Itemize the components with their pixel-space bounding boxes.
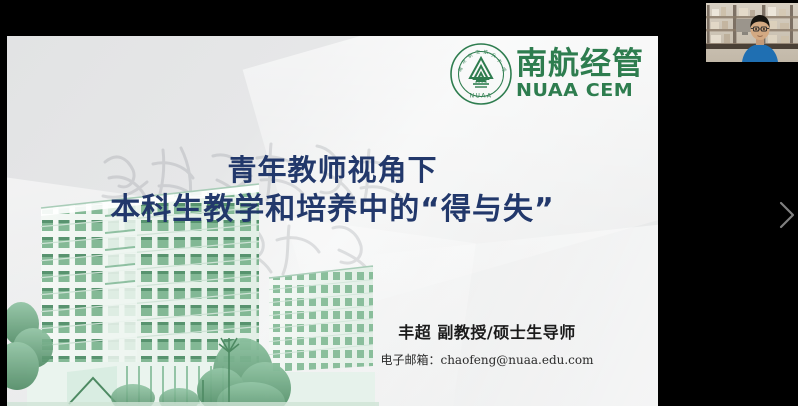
svg-text:1952: 1952 [475, 79, 488, 85]
logo-wordmark: 南航经管 NUAA CEM [516, 49, 644, 100]
svg-text:学: 学 [500, 66, 509, 74]
calligraphy-watermark [93, 134, 453, 279]
svg-text:天: 天 [490, 52, 497, 59]
logo-wordmark-cn: 南航经管 [516, 49, 644, 80]
shared-slide[interactable]: 1952 NUAA 南 京 航 空 航 天 大 学 南航经管 NUAA CEM [7, 36, 658, 406]
slide-title-line-1: 青年教师视角下 [7, 152, 658, 188]
slide-title-line-2: 本科生教学和培养中的“得与失” [7, 190, 658, 230]
presenter-info: 丰超 副教授/硕士生导师 电子邮箱：chaofeng@nuaa.edu.com [337, 319, 637, 368]
logo-wordmark-en: NUAA CEM [516, 82, 633, 100]
nuaa-crest-icon: 1952 NUAA 南 京 航 空 航 天 大 学 [449, 42, 513, 106]
slide-background-facet-c [329, 221, 658, 406]
slide-background-facet-b [7, 171, 476, 406]
nuaa-cem-logo: 1952 NUAA 南 京 航 空 航 天 大 学 南航经管 NUAA CEM [449, 42, 644, 106]
presenter-name: 丰超 副教授/硕士生导师 [337, 319, 637, 343]
presenter-email: 电子邮箱：chaofeng@nuaa.edu.com [337, 351, 637, 368]
svg-text:NUAA: NUAA [470, 93, 493, 100]
slide-title: 青年教师视角下 本科生教学和培养中的“得与失” [7, 152, 658, 230]
svg-text:航: 航 [483, 49, 488, 56]
svg-text:南: 南 [456, 65, 465, 73]
campus-building-artwork [7, 166, 379, 406]
webcam-pip-video[interactable] [706, 3, 798, 62]
chevron-right-icon[interactable] [776, 199, 798, 231]
screen-share-stage: 1952 NUAA 南 京 航 空 航 天 大 学 南航经管 NUAA CEM [0, 0, 798, 406]
